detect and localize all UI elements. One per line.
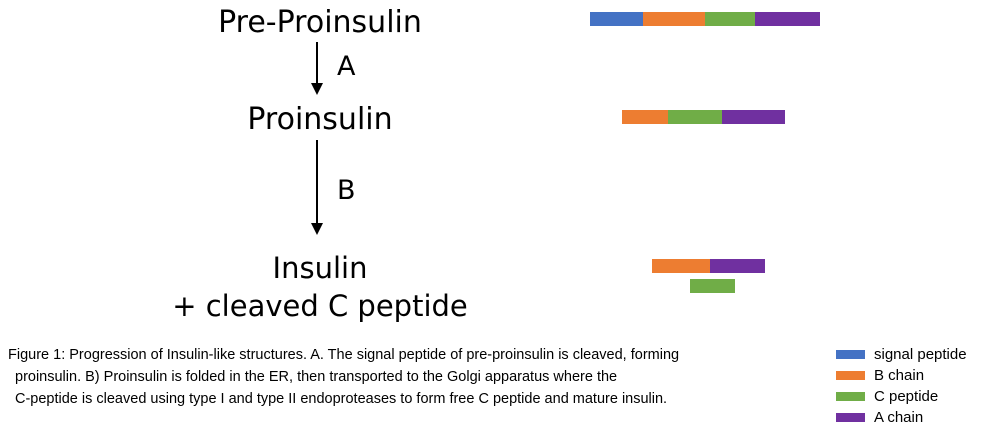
protein-segment-b-chain	[643, 12, 705, 26]
stage-label-proinsulin: Proinsulin	[0, 103, 640, 137]
protein-segment-signal-peptide	[590, 12, 643, 26]
legend-item-a-chain: A chain	[836, 407, 986, 428]
legend-swatch-b-chain	[836, 371, 865, 380]
insulin-biosynthesis-figure: Pre-Proinsulin Proinsulin Insulin + clea…	[0, 0, 986, 431]
protein-segment-c-peptide	[690, 279, 735, 293]
legend-swatch-signal-peptide	[836, 350, 865, 359]
arrow-label-a: A	[337, 53, 355, 80]
legend-label-b-chain: B chain	[874, 368, 924, 383]
legend-item-signal-peptide: signal peptide	[836, 344, 986, 365]
protein-bar-proinsulin	[622, 110, 785, 124]
figure-caption: Figure 1: Progression of Insulin-like st…	[8, 344, 814, 410]
legend-swatch-c-peptide	[836, 392, 865, 401]
protein-bar-free-c-peptide	[690, 279, 735, 293]
protein-segment-a-chain	[755, 12, 820, 26]
stage-label-pre-proinsulin: Pre-Proinsulin	[0, 6, 640, 40]
protein-segment-c-peptide	[705, 12, 755, 26]
protein-bar-insulin	[652, 259, 765, 273]
legend-label-a-chain: A chain	[874, 410, 923, 425]
figure-legend: signal peptide B chain C peptide A chain	[836, 344, 986, 428]
protein-segment-a-chain	[710, 259, 765, 273]
legend-swatch-a-chain	[836, 413, 865, 422]
stage-label-insulin: Insulin	[0, 252, 640, 284]
protein-segment-b-chain	[652, 259, 710, 273]
protein-segment-c-peptide	[668, 110, 722, 124]
legend-item-b-chain: B chain	[836, 365, 986, 386]
legend-label-signal-peptide: signal peptide	[874, 347, 967, 362]
protein-segment-a-chain	[722, 110, 785, 124]
stage-label-cleaved-c-peptide: + cleaved C peptide	[0, 290, 640, 322]
arrow-a-shaft	[316, 42, 318, 84]
caption-line-1: Figure 1: Progression of Insulin-like st…	[8, 344, 814, 366]
arrow-b-shaft	[316, 140, 318, 224]
arrow-label-b: B	[337, 177, 356, 204]
legend-item-c-peptide: C peptide	[836, 386, 986, 407]
legend-label-c-peptide: C peptide	[874, 389, 938, 404]
caption-line-3: C-peptide is cleaved using type I and ty…	[8, 388, 814, 410]
arrow-b-head	[311, 223, 323, 235]
arrow-a-head	[311, 83, 323, 95]
caption-line-2: proinsulin. B) Proinsulin is folded in t…	[8, 366, 814, 388]
protein-segment-b-chain	[622, 110, 668, 124]
protein-bar-pre-proinsulin	[590, 12, 820, 26]
